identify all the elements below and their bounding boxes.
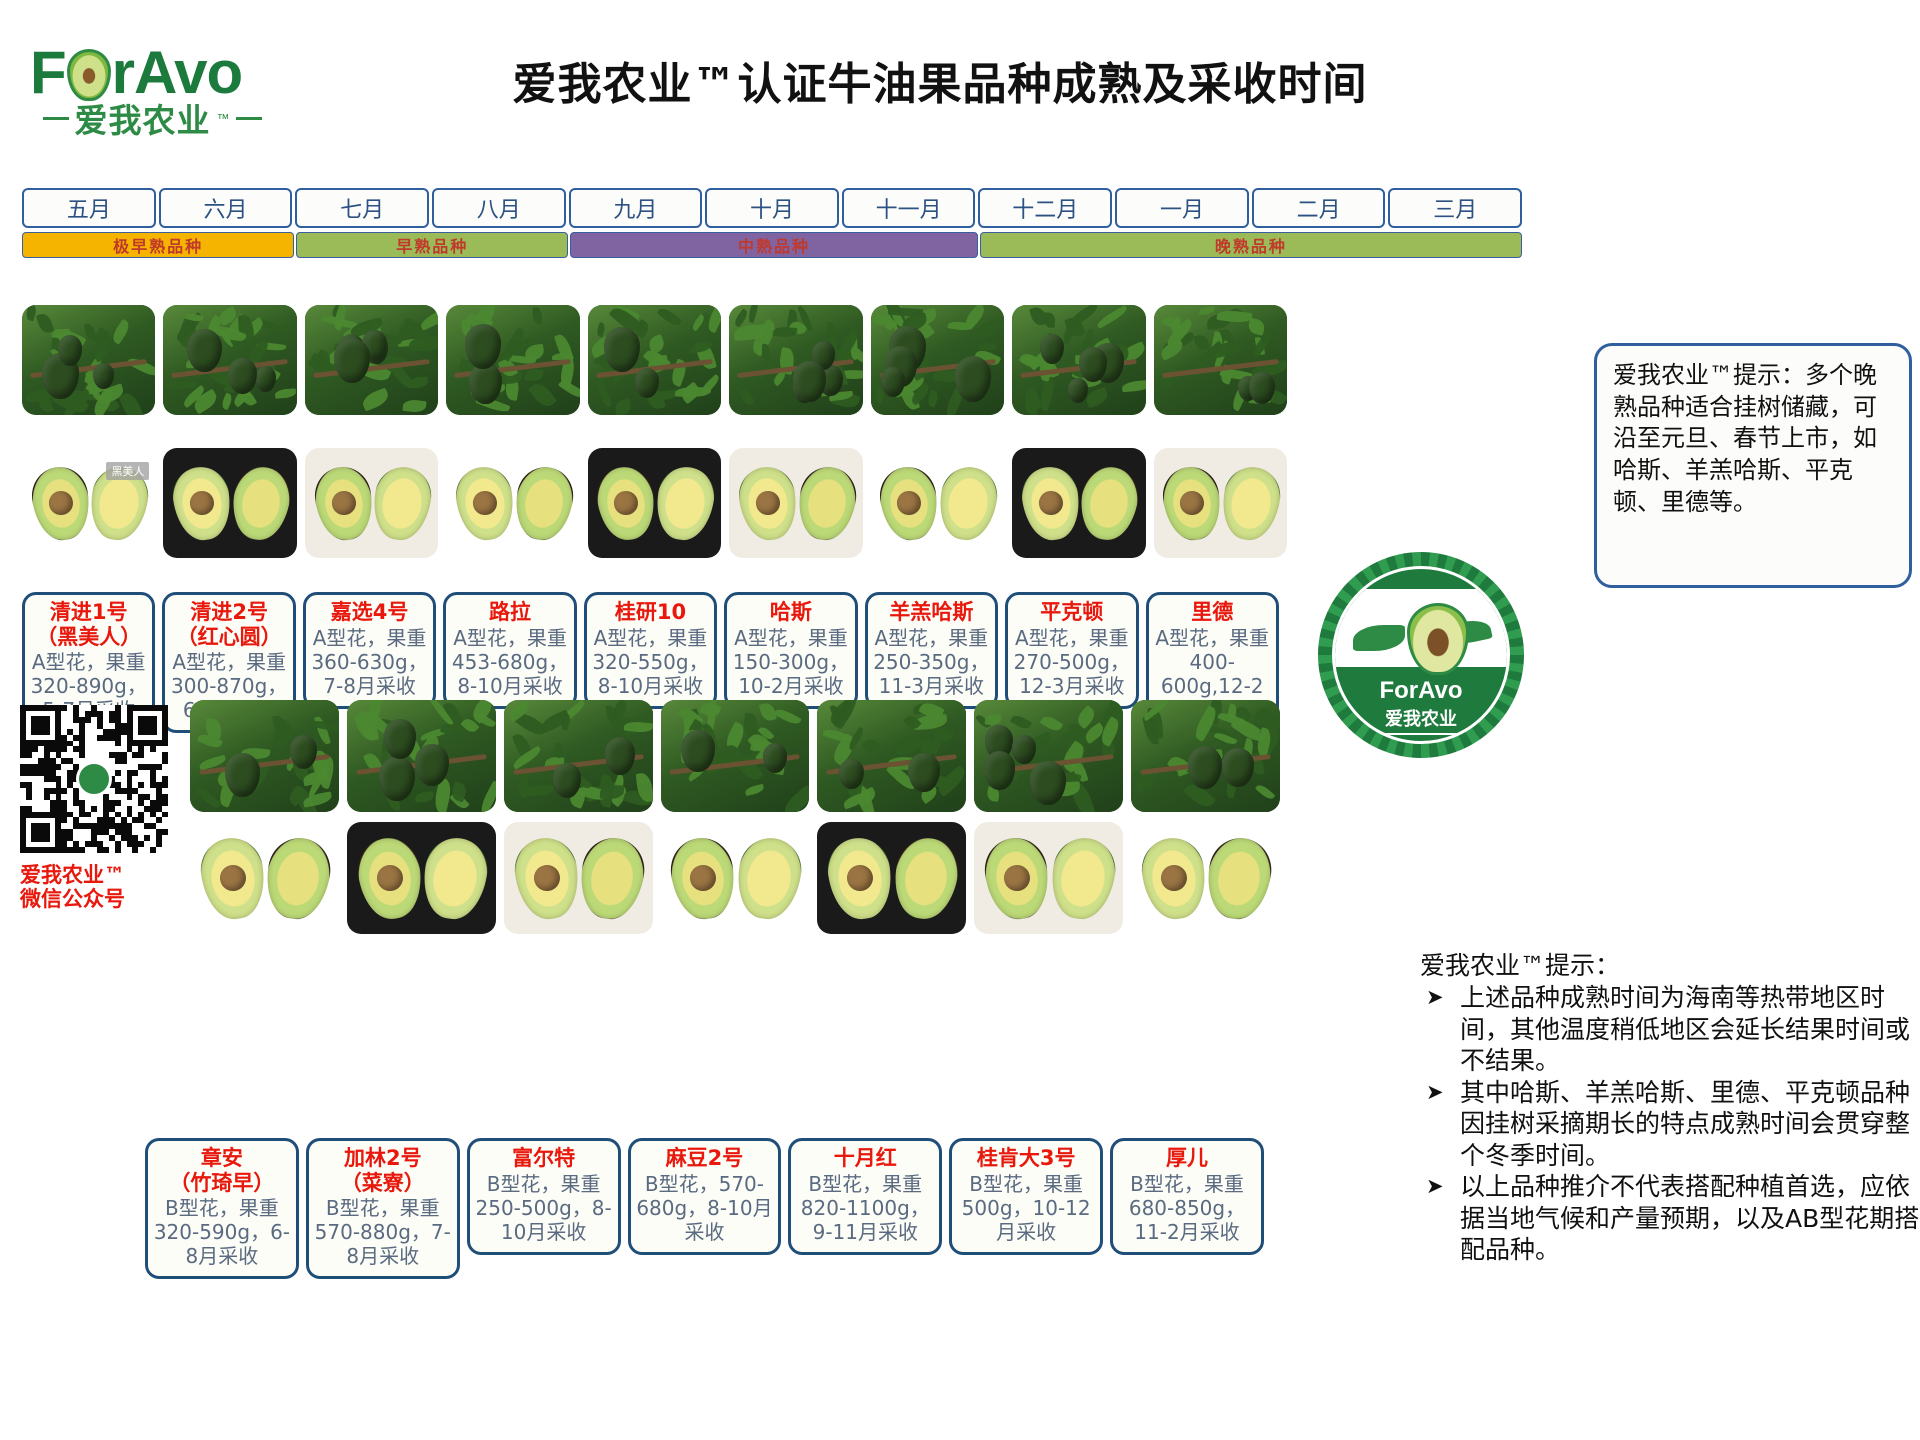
leaf-shape: [415, 791, 434, 803]
qr-finder-pattern: [20, 705, 61, 746]
month-cell-1: 五月: [22, 188, 156, 228]
qr-caption-line-1: 爱我农业™: [20, 863, 180, 887]
qr-module: [156, 817, 162, 823]
month-cell-10: 二月: [1252, 188, 1386, 228]
canopy-illustration: [446, 305, 579, 415]
avocado-fruit-shape: [1030, 761, 1066, 806]
ripening-segment-1: 极早熟品种: [22, 232, 294, 258]
avocado-fruit-shape: [604, 327, 640, 372]
avocado-half-shape: [876, 463, 942, 543]
avocado-half-shape: [510, 834, 583, 922]
avocado-fruit-shape: [1012, 735, 1035, 764]
leaf-shape: [773, 706, 801, 727]
variety-card[interactable]: 羊羔哈斯A型花，果重250-350g，11-3月采收: [865, 592, 998, 709]
leaf-shape: [1095, 305, 1128, 329]
variety-description: A型花，果重270-500g，12-3月采收: [1012, 626, 1131, 698]
qr-finder-pattern: [127, 705, 168, 746]
leaf-shape: [403, 399, 427, 413]
qr-module: [144, 835, 150, 841]
variety-description: B型花，果重320-590g，6-8月采收: [152, 1196, 292, 1268]
notes-heading: 爱我农业™提示：: [1420, 950, 1920, 981]
cut-fruit-illustration: [347, 822, 496, 934]
cut-fruit-illustration: [190, 822, 339, 934]
reed-tree: [1154, 305, 1287, 415]
variety-name: 富尔特: [474, 1147, 614, 1171]
cut-fruit-illustration: [817, 822, 966, 934]
variety-card[interactable]: 桂研10A型花，果重320-550g，8-10月采收: [584, 592, 717, 709]
qr-module: [162, 800, 168, 806]
leaf-shape: [926, 390, 940, 409]
month-cell-9: 一月: [1115, 188, 1249, 228]
avocado-half-shape: [594, 463, 660, 543]
qingjin2-tree: [163, 305, 296, 415]
jialin2-tree: [347, 700, 496, 812]
qr-module: [61, 705, 67, 711]
guikenda3-tree: [974, 700, 1123, 812]
month-cell-11: 三月: [1388, 188, 1522, 228]
avocado-fruit-shape: [384, 719, 415, 758]
variety-description: B型花，570-680g，8-10月采收: [635, 1172, 775, 1244]
leaf-shape: [408, 377, 427, 389]
logo-rule-left: [43, 117, 69, 120]
avocado-half-shape: [981, 834, 1054, 922]
avocado-pit-shape: [1002, 863, 1031, 892]
variety-card[interactable]: 十月红B型花，果重820-1100g，9-11月采收: [788, 1138, 942, 1255]
leaf-shape: [1010, 713, 1032, 732]
qr-module: [138, 841, 144, 847]
leaf-shape: [862, 736, 881, 755]
leaf-shape: [110, 319, 133, 346]
avocado-half-shape: [452, 463, 518, 543]
canopy-illustration: [1131, 700, 1280, 812]
avocado-half-shape: [369, 463, 436, 544]
leaf-shape: [119, 391, 145, 415]
variety-name: 麻豆2号: [635, 1147, 775, 1171]
ripening-segment-4: 晚熟品种: [980, 232, 1522, 258]
avocado-fruit-shape: [228, 358, 257, 394]
madou2-cut: [661, 822, 810, 934]
shiyuehong-cut: [817, 822, 966, 934]
avocado-pit-shape: [613, 489, 640, 516]
fuerte-cut: [504, 822, 653, 934]
avocado-fruit-shape: [984, 751, 1015, 789]
variety-card[interactable]: 哈斯A型花，果重150-300g，10-2月采收: [724, 592, 857, 709]
avocado-pit-shape: [754, 489, 781, 516]
variety-description: B型花，果重680-850g，11-2月采收: [1117, 1172, 1257, 1244]
qr-module: [138, 782, 144, 788]
avocado-half-shape: [824, 834, 897, 922]
qr-module: [150, 746, 156, 752]
variety-name: 路拉: [450, 601, 569, 625]
month-cell-2: 六月: [159, 188, 293, 228]
qr-module: [150, 847, 156, 853]
avocado-pit-shape: [375, 863, 404, 892]
gem-tree: [871, 305, 1004, 415]
avocado-half-shape: [197, 834, 270, 922]
variety-card[interactable]: 富尔特B型花，果重250-500g，8-10月采收: [467, 1138, 621, 1255]
leaf-shape: [36, 311, 54, 334]
qr-module: [162, 812, 168, 818]
variety-name: 平克顿: [1012, 601, 1131, 625]
avocado-half-shape: [1203, 833, 1277, 922]
leaf-shape: [275, 388, 297, 398]
variety-name: 里德: [1153, 601, 1272, 625]
avocado-half-shape: [667, 834, 740, 922]
zhangan-cut: [190, 822, 339, 934]
avocado-pit-shape: [896, 489, 923, 516]
row-a-cut-photos: 黑美人: [22, 448, 1287, 558]
leaf-shape: [894, 735, 922, 755]
jiaxuan4-tree: [305, 305, 438, 415]
qr-module: [32, 746, 38, 752]
variety-name: 嘉选4号: [310, 601, 429, 625]
hass-cut: [729, 448, 862, 558]
avocado-half-shape: [1076, 463, 1143, 544]
variety-card[interactable]: 加林2号（菜寮）B型花，果重570-880g，7-8月采收: [306, 1138, 460, 1279]
canopy-illustration: [1012, 305, 1145, 415]
page-header: FrAvo 爱我农业 ™ 爱我农业™认证牛油果品种成熟及采收时间: [0, 0, 1920, 160]
qr-module: [156, 764, 162, 770]
variety-name: 十月红: [795, 1147, 935, 1171]
canopy-illustration: [347, 700, 496, 812]
row-a-tree-photos: [22, 305, 1287, 415]
ripening-segment-3: 中熟品种: [570, 232, 977, 258]
avocado-half-shape: [311, 463, 377, 543]
leaf-shape: [1247, 318, 1265, 336]
leaf-shape: [126, 355, 155, 380]
avocado-pit-shape: [47, 489, 74, 516]
variety-name: 羊羔哈斯: [872, 601, 991, 625]
cut-fruit-illustration: [163, 448, 296, 558]
jiaxuan4-cut: [305, 448, 438, 558]
month-cell-4: 八月: [432, 188, 566, 228]
seal-inner: ForAvo 爱我农业: [1332, 566, 1510, 744]
row-b-variety-cards: 章安（竹琦早）B型花，果重320-590g，6-8月采收加林2号（菜寮）B型花，…: [145, 1138, 1264, 1279]
seal-brand: ForAvo: [1335, 677, 1507, 705]
avocado-half-shape: [1159, 463, 1225, 543]
qr-module: [132, 770, 138, 776]
avocado-fruit-shape: [465, 324, 501, 369]
shiyuehong-tree: [817, 700, 966, 812]
lula-cut: [446, 448, 579, 558]
qr-module: [115, 770, 121, 776]
qr-module: [85, 812, 91, 818]
variety-description: B型花，果重250-500g，8-10月采收: [474, 1172, 614, 1244]
leaf-shape: [478, 780, 496, 812]
avocado-pit-shape: [1037, 489, 1064, 516]
variety-name: 章安: [152, 1147, 292, 1171]
leaf-shape: [523, 785, 553, 797]
avocado-pit-shape: [330, 489, 357, 516]
logo-rule-right: [236, 117, 262, 120]
hass-tree: [729, 305, 862, 415]
qr-finder-core: [138, 716, 157, 735]
avocado-half-shape: [889, 833, 963, 922]
leaf-shape: [418, 306, 438, 331]
month-cell-8: 十二月: [978, 188, 1112, 228]
seal-brand-rule: [1379, 733, 1463, 735]
variety-alias: （竹琦早）: [152, 1172, 292, 1196]
note-item-3: 以上品种推介不代表搭配种植首选，应依据当地气候和产量预期，以及AB型花期搭配品种…: [1420, 1171, 1920, 1266]
avocado-fruit-shape: [955, 356, 992, 402]
avocado-fruit-shape: [1188, 746, 1222, 789]
avocado-half-shape: [261, 833, 335, 922]
qr-module: [85, 717, 91, 723]
avocado-fruit-shape: [1040, 334, 1064, 364]
variety-name: 桂肯大3号: [956, 1147, 1096, 1171]
leaf-shape: [772, 326, 797, 338]
ripening-segment-2: 早熟品种: [296, 232, 568, 258]
avocado-half-shape: [169, 463, 235, 543]
gem-cut: [871, 448, 1004, 558]
leaf-shape: [596, 321, 607, 337]
foravo-logo: FrAvo 爱我农业 ™: [22, 32, 282, 142]
seal-brand-cn: 爱我农业: [1335, 705, 1507, 731]
avocado-half-shape: [732, 833, 806, 922]
qr-module: [127, 794, 133, 800]
foravo-seal-badge: ForAvo 爱我农业: [1318, 552, 1524, 758]
variety-description: A型花，果重453-680g，8-10月采收: [450, 626, 569, 698]
variety-description: B型花，果重500g，10-12月采收: [956, 1172, 1096, 1244]
month-cell-6: 十月: [705, 188, 839, 228]
zhangan-tree: [190, 700, 339, 812]
row-b-cut-photos: [190, 822, 1280, 934]
variety-card[interactable]: 平克顿A型花，果重270-500g，12-3月采收: [1005, 592, 1138, 709]
avocado-fruit-shape: [1068, 378, 1088, 403]
avocado-half-shape: [510, 463, 577, 544]
avocado-half-shape: [418, 833, 492, 922]
avocado-pit-shape: [845, 863, 874, 892]
avocado-half-shape: [1138, 834, 1211, 922]
canopy-illustration: [871, 305, 1004, 415]
canopy-illustration: [504, 700, 653, 812]
avocado-pit-shape: [689, 863, 718, 892]
qr-module: [132, 847, 138, 853]
qr-module: [138, 752, 144, 758]
madou2-tree: [661, 700, 810, 812]
variety-description: A型花，果重320-550g，8-10月采收: [591, 626, 710, 698]
avocado-pit-shape: [218, 863, 247, 892]
avocado-pit-shape: [472, 489, 499, 516]
qr-module: [115, 800, 121, 806]
canopy-illustration: [817, 700, 966, 812]
qr-module: [162, 829, 168, 835]
month-cell-3: 七月: [295, 188, 429, 228]
canopy-illustration: [974, 700, 1123, 812]
logo-subtitle: 爱我农业 ™: [22, 98, 282, 138]
avocado-half-shape: [575, 833, 649, 922]
note-item-1: 上述品种成熟时间为海南等热带地区时间，其他温度稍低地区会延长结果时间或不结果。: [1420, 982, 1920, 1077]
variety-description: B型花，果重820-1100g，9-11月采收: [795, 1172, 935, 1244]
cut-fruit-illustration: [305, 448, 438, 558]
avocado-half-shape: [1218, 463, 1285, 544]
leaf-shape: [533, 307, 543, 324]
canopy-illustration: [190, 700, 339, 812]
cut-fruit-illustration: [974, 822, 1123, 934]
variety-name: 加林2号: [313, 1147, 453, 1171]
variety-description: A型花，果重250-350g，11-3月采收: [872, 626, 991, 698]
avocado-half-shape: [935, 463, 1002, 544]
avocado-half-shape: [28, 463, 94, 543]
cut-fruit-illustration: [1131, 822, 1280, 934]
variety-name: 桂研10: [591, 601, 710, 625]
wechat-qr-block: 爱我农业™ 微信公众号: [20, 705, 180, 935]
qingjin1-tree: [22, 305, 155, 415]
logo-tm-mark: ™: [217, 111, 230, 126]
leaf-shape: [781, 785, 810, 812]
avocado-pit-shape: [532, 863, 561, 892]
qr-module: [162, 782, 168, 788]
variety-card[interactable]: 章安（竹琦早）B型花，果重320-590g，6-8月采收: [145, 1138, 299, 1279]
variety-alias: （菜寮）: [313, 1172, 453, 1196]
avocado-fruit-shape: [793, 361, 825, 401]
variety-card[interactable]: 厚儿B型花，果重680-850g，11-2月采收: [1110, 1138, 1264, 1255]
guikenda3-cut: [974, 822, 1123, 934]
variety-name: 清进1号: [29, 601, 148, 625]
leaf-shape: [1122, 379, 1145, 391]
leaf-shape: [1254, 782, 1275, 802]
leaf-shape: [614, 398, 633, 415]
houer-cut: [1131, 822, 1280, 934]
cut-fruit-illustration: [729, 448, 862, 558]
avocado-half-shape: [227, 463, 294, 544]
guiyan10-cut: [588, 448, 721, 558]
qingjin1-cut: 黑美人: [22, 448, 155, 558]
leaf-shape: [1199, 306, 1216, 315]
qr-module: [61, 746, 67, 752]
leaf-shape: [744, 784, 764, 796]
qr-finder-core: [31, 823, 50, 842]
variety-name: 哈斯: [731, 601, 850, 625]
avocado-pit-shape: [1179, 489, 1206, 516]
canopy-illustration: [729, 305, 862, 415]
variety-name: 厚儿: [1117, 1147, 1257, 1171]
leaf-shape: [1039, 714, 1062, 734]
variety-description: B型花，果重570-880g，7-8月采收: [313, 1196, 453, 1268]
qr-center-logo-icon: [76, 761, 112, 797]
qr-finder-core: [31, 716, 50, 735]
cut-fruit-illustration: [871, 448, 1004, 558]
qr-module: [115, 741, 121, 747]
month-cell-5: 九月: [569, 188, 703, 228]
avocado-fruit-shape: [553, 763, 581, 797]
leaf-shape: [528, 379, 557, 410]
leaf-shape: [220, 392, 234, 410]
leaf-shape: [759, 701, 777, 722]
cut-fruit-illustration: [1012, 448, 1145, 558]
avocado-pit-shape: [1159, 863, 1188, 892]
avocado-fruit-shape: [58, 335, 83, 366]
qr-module: [162, 758, 168, 764]
houer-tree: [1131, 700, 1280, 812]
pinkerton-cut: [1012, 448, 1145, 558]
qr-module: [56, 764, 62, 770]
leaf-shape: [1043, 313, 1054, 328]
qr-module: [61, 817, 67, 823]
variety-card[interactable]: 麻豆2号B型花，570-680g，8-10月采收: [628, 1138, 782, 1255]
canopy-illustration: [661, 700, 810, 812]
ripening-category-bar: 极早熟品种早熟品种中熟品种晚熟品种: [22, 232, 1522, 258]
canopy-illustration: [163, 305, 296, 415]
leaf-shape: [195, 784, 221, 810]
qr-finder-pattern: [20, 812, 61, 853]
variety-alias: （红心圆）: [169, 626, 288, 650]
avocado-fruit-shape: [225, 753, 260, 797]
variety-description: A型花，果重150-300g，10-2月采收: [731, 626, 850, 698]
leaf-shape: [762, 344, 771, 360]
leaf-shape: [1194, 334, 1210, 352]
leaf-shape: [657, 305, 683, 329]
variety-card[interactable]: 桂肯大3号B型花，果重500g，10-12月采收: [949, 1138, 1103, 1255]
qr-module: [79, 752, 85, 758]
avocado-fruit-shape: [379, 757, 415, 802]
variety-name: 清进2号: [169, 601, 288, 625]
avocado-pit-shape: [189, 489, 216, 516]
variety-description: A型花，果重360-630g，7-8月采收: [310, 626, 429, 698]
cut-fruit-illustration: [661, 822, 810, 934]
avocado-half-shape: [1018, 463, 1084, 543]
qr-module: [91, 806, 97, 812]
row-b-tree-photos: [190, 700, 1280, 812]
avocado-fruit-shape: [881, 367, 905, 397]
reed-cut: [1154, 448, 1287, 558]
qr-module: [26, 794, 32, 800]
qr-module: [61, 788, 67, 794]
leaf-shape: [360, 388, 391, 412]
avocado-half-shape: [793, 463, 860, 544]
avocado-half-shape: [652, 463, 719, 544]
leaf-shape: [596, 378, 612, 409]
canopy-illustration: [588, 305, 721, 415]
jialin2-cut: [347, 822, 496, 934]
month-cell-7: 十一月: [842, 188, 976, 228]
canopy-illustration: [1154, 305, 1287, 415]
variety-card[interactable]: 路拉A型花，果重453-680g，8-10月采收: [443, 592, 576, 709]
qr-module: [103, 847, 109, 853]
photo-caption-chip: 黑美人: [106, 462, 149, 480]
logo-chinese-name: 爱我农业: [75, 94, 211, 142]
variety-alias: （黑美人）: [29, 626, 148, 650]
qr-module: [115, 847, 121, 853]
qr-code-image[interactable]: [20, 705, 168, 853]
cut-fruit-illustration: [588, 448, 721, 558]
variety-card[interactable]: 嘉选4号A型花，果重360-630g，7-8月采收: [303, 592, 436, 709]
leaf-shape: [746, 305, 760, 324]
guiyan10-tree: [588, 305, 721, 415]
leaf-shape: [524, 368, 543, 381]
canopy-illustration: [305, 305, 438, 415]
qr-module: [79, 847, 85, 853]
avocado-fruit-shape: [255, 366, 276, 392]
infographic-page: FrAvo 爱我农业 ™ 爱我农业™认证牛油果品种成熟及采收时间 五月六月七月八…: [0, 0, 1920, 1440]
leaf-shape: [1067, 305, 1101, 329]
cut-fruit-illustration: [1154, 448, 1287, 558]
fuerte-tree: [504, 700, 653, 812]
qr-caption-line-2: 微信公众号: [20, 887, 180, 911]
cut-fruit-illustration: [504, 822, 653, 934]
avocado-fruit-shape: [93, 363, 114, 389]
qingjin2-cut: [163, 448, 296, 558]
pinkerton-tree: [1012, 305, 1145, 415]
avocado-fruit-shape: [334, 338, 370, 383]
footer-notes: 爱我农业™提示： 上述品种成熟时间为海南等热带地区时间，其他温度稍低地区会延长结…: [1420, 950, 1920, 1370]
lula-tree: [446, 305, 579, 415]
canopy-illustration: [22, 305, 155, 415]
note-item-2: 其中哈斯、羊羔哈斯、里德、平克顿品种因挂树采摘期长的特点成熟时间会贯穿整个冬季时…: [1420, 1077, 1920, 1172]
late-variety-tip-box: 爱我农业™提示：多个晚熟品种适合挂树储藏，可沿至元旦、春节上市，如哈斯、羊羔哈斯…: [1594, 343, 1912, 588]
page-title: 爱我农业™认证牛油果品种成熟及采收时间: [340, 48, 1540, 112]
avocado-fruit-shape: [469, 363, 502, 404]
